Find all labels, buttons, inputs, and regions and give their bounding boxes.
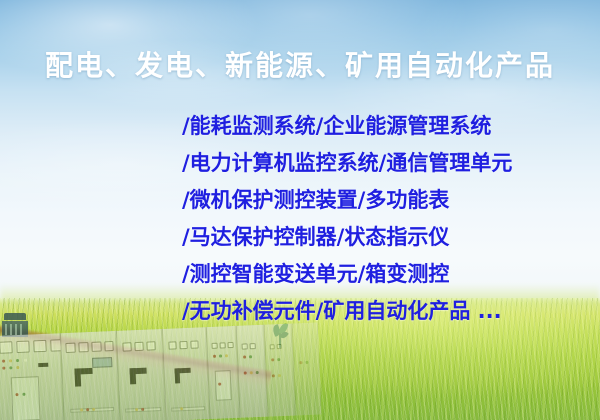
- switchgear-cabinet: [264, 324, 296, 417]
- indicator-lamp: [271, 358, 274, 361]
- indicator-lamp: [9, 359, 12, 362]
- cabinet-door: [215, 370, 232, 401]
- product-line: /无功补偿元件/矿用自动化产品 ...: [182, 293, 582, 330]
- cabinet-face: [265, 324, 295, 417]
- cabinet-face: [61, 331, 119, 420]
- indicator-lamp: [16, 359, 19, 362]
- indicator-lamp: [218, 383, 221, 386]
- indicator-lamp: [16, 366, 19, 369]
- operating-handle: [129, 368, 136, 384]
- product-line: /电力计算机监控系统/通信管理单元: [182, 145, 582, 182]
- switchgear-cabinet: [162, 327, 210, 420]
- indicator-lamp: [278, 374, 281, 377]
- panel-meter: [122, 342, 131, 351]
- operating-handle: [38, 363, 48, 367]
- indicator-lamp: [86, 408, 89, 411]
- terminal-strip: [171, 406, 205, 411]
- indicator-lamp: [2, 360, 5, 363]
- panel-meter: [250, 343, 256, 349]
- substation-box: [2, 313, 28, 337]
- panel-meter: [211, 343, 217, 349]
- product-line: /能耗监测系统/企业能源管理系统: [182, 108, 582, 145]
- cabinet-face: [163, 327, 209, 420]
- panel-meter: [78, 342, 88, 352]
- indicator-lamp: [180, 407, 183, 410]
- indicator-lamp: [249, 355, 252, 358]
- page-title: 配电、发电、新能源、矿用自动化产品: [0, 44, 600, 84]
- panel-meter: [104, 341, 113, 351]
- switchgear-cabinet: [116, 329, 166, 420]
- panel-meter: [219, 342, 225, 348]
- indicator-lamp: [92, 408, 95, 411]
- substation-louver: [5, 324, 7, 335]
- promo-banner: 配电、发电、新能源、矿用自动化产品 /能耗监测系统/企业能源管理系统 /电力计算…: [0, 0, 600, 420]
- indicator-lamp: [272, 374, 275, 377]
- switchgear-cabinet: [60, 331, 120, 420]
- panel-meter: [146, 341, 155, 350]
- cabinet-door: [11, 376, 41, 420]
- panel-meter: [91, 342, 101, 352]
- indicator-lamp: [256, 371, 259, 374]
- switchgear-cabinet: [236, 325, 268, 418]
- indicator-lamp: [24, 359, 27, 362]
- panel-meter: [0, 341, 13, 354]
- indicator-lamp: [243, 355, 246, 358]
- operating-handle: [175, 368, 181, 383]
- indicator-lamp: [9, 366, 12, 369]
- cabinet-face: [207, 326, 239, 419]
- product-line: /马达保护控制器/状态指示仪: [182, 219, 582, 256]
- indicator-lamp: [244, 371, 247, 374]
- panel-meter: [242, 343, 248, 349]
- panel-meter: [33, 340, 46, 353]
- cabinet-face: [0, 333, 63, 420]
- panel-meter: [168, 341, 176, 349]
- substation-louver: [20, 324, 22, 335]
- indicator-lamp: [22, 393, 25, 396]
- indicator-lamp: [80, 408, 83, 411]
- indicator-lamp: [225, 354, 228, 357]
- panel-meter: [65, 343, 75, 353]
- substation-louver: [15, 324, 17, 335]
- switchgear-cabinet: [206, 326, 240, 419]
- substation-louver: [10, 324, 12, 335]
- indicator-lamp: [219, 354, 222, 357]
- product-list: /能耗监测系统/企业能源管理系统 /电力计算机监控系统/通信管理单元 /微机保护…: [182, 108, 582, 330]
- panel-meter: [179, 341, 187, 349]
- indicator-lamp: [250, 371, 253, 374]
- substation-roof: [4, 313, 26, 320]
- cabinet-face: [293, 322, 321, 415]
- panel-meter: [16, 341, 29, 354]
- cabinet-face: [117, 329, 165, 420]
- panel-meter: [227, 342, 233, 348]
- product-line: /微机保护测控装置/多功能表: [182, 182, 582, 219]
- panel-meter: [134, 342, 143, 351]
- operating-handle: [74, 368, 81, 386]
- switchgear-lineup: [0, 322, 328, 420]
- indicator-lamp: [141, 408, 144, 411]
- switchgear-cabinet: [0, 333, 64, 420]
- cabinet-face: [237, 325, 267, 418]
- indicator-lamp: [2, 367, 5, 370]
- product-line: /测控智能变送单元/箱变测控: [182, 256, 582, 293]
- panel-meter: [277, 344, 282, 349]
- indicator-lamp: [277, 358, 280, 361]
- panel-meter: [190, 340, 198, 348]
- indicator-lamp: [213, 355, 216, 358]
- indicator-lamp: [305, 361, 308, 364]
- indicator-lamp: [299, 361, 302, 364]
- panel-meter: [270, 344, 275, 349]
- digital-display: [92, 357, 112, 368]
- switchgear-cabinet: [292, 322, 322, 415]
